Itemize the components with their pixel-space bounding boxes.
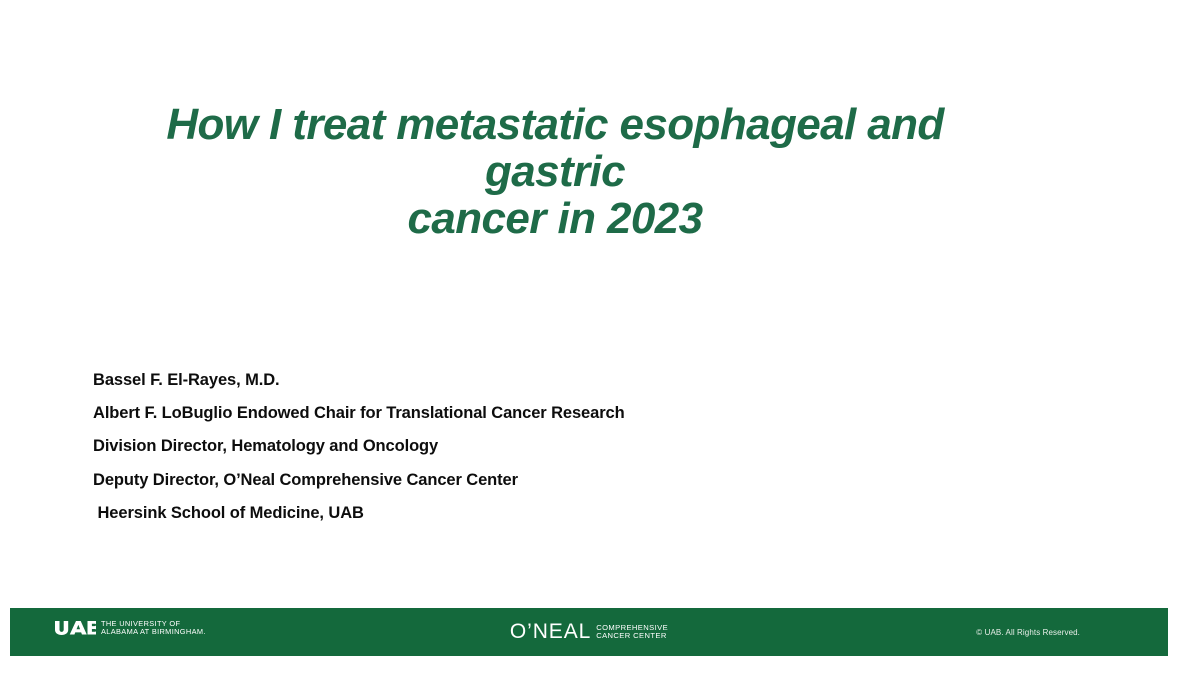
slide-footer-bar: THE UNIVERSITY OF ALABAMA AT BIRMINGHAM.… [10, 608, 1168, 656]
author-affiliation-block: Bassel F. El-Rayes, M.D. Albert F. LoBug… [93, 364, 993, 530]
slide-title-line-2: cancer in 2023 [95, 195, 1015, 242]
slide-title: How I treat metastatic esophageal and ga… [95, 101, 1015, 242]
author-title-endowed-chair: Albert F. LoBuglio Endowed Chair for Tra… [93, 397, 993, 430]
oneal-logo-name: O’NEAL [510, 621, 591, 642]
copyright-notice: © UAB. All Rights Reserved. [976, 628, 1080, 637]
oneal-subtitle-line-2: CANCER CENTER [596, 632, 668, 641]
presentation-slide: How I treat metastatic esophageal and ga… [0, 0, 1182, 678]
author-title-deputy-director: Deputy Director, O’Neal Comprehensive Ca… [93, 464, 993, 497]
author-institution: Heersink School of Medicine, UAB [93, 497, 993, 530]
slide-title-line-1: How I treat metastatic esophageal and ga… [95, 101, 1015, 195]
author-title-division-director: Division Director, Hematology and Oncolo… [93, 430, 993, 463]
author-name: Bassel F. El-Rayes, M.D. [93, 364, 993, 397]
oneal-logo-subtitle: COMPREHENSIVE CANCER CENTER [596, 623, 668, 641]
